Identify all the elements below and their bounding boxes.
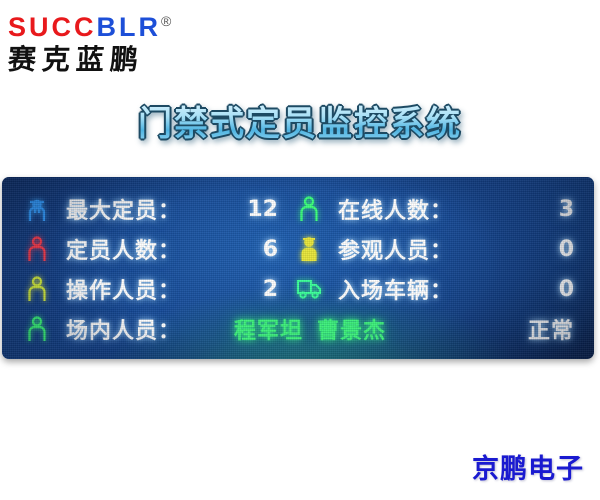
footer-brand: 京鹏电子 [472, 447, 584, 486]
led-label-operator-count: 操作人员： [66, 273, 181, 305]
led-row-staff-count: 定员人数： 6 [24, 229, 296, 269]
page-title: 门禁式定员监控系统 [0, 96, 600, 145]
led-label-visitor-count: 参观人员： [338, 233, 453, 265]
led-value-max-capacity: 12 [247, 197, 278, 222]
person-hardhat-icon [24, 194, 50, 224]
status-badge: 正常 [528, 313, 574, 345]
led-onsite-name-1: 程军坦 [234, 319, 303, 344]
led-grid: 最大定员： 12 在线人数： 3 定员人数： 6 [2, 177, 594, 359]
led-onsite-name-list: 程军坦曹景杰 [234, 313, 386, 345]
led-label-onsite-personnel: 场内人员： [66, 313, 181, 345]
brand-wordmark: SUCCBLR® [8, 6, 228, 42]
person-icon [24, 314, 50, 344]
led-label-online-count: 在线人数： [338, 193, 453, 225]
person-icon [24, 274, 50, 304]
truck-icon [296, 274, 322, 304]
led-onsite-name-2: 曹景杰 [317, 319, 386, 344]
led-value-online-count: 3 [559, 197, 574, 222]
led-row-vehicle-count: 入场车辆： 0 [296, 269, 586, 309]
brand-logo: SUCCBLR® 赛克蓝鹏 [8, 6, 228, 72]
led-row-online-count: 在线人数： 3 [296, 189, 586, 229]
brand-wordmark-part2: BLR [97, 12, 162, 42]
person-icon [24, 234, 50, 264]
led-value-operator-count: 2 [263, 277, 278, 302]
registered-trademark-icon: ® [161, 13, 171, 29]
brand-chinese-name: 赛克蓝鹏 [7, 43, 229, 77]
led-value-visitor-count: 0 [559, 237, 574, 262]
led-display-panel: 最大定员： 12 在线人数： 3 定员人数： 6 [2, 177, 594, 359]
led-row-visitor-count: 参观人员： 0 [296, 229, 586, 269]
led-value-staff-count: 6 [263, 237, 278, 262]
led-value-vehicle-count: 0 [559, 277, 574, 302]
person-visitor-icon [296, 234, 322, 264]
led-label-max-capacity: 最大定员： [66, 193, 181, 225]
led-row-max-capacity: 最大定员： 12 [24, 189, 296, 229]
led-row-onsite-personnel: 场内人员： 程军坦曹景杰 正常 [24, 309, 586, 349]
led-label-vehicle-count: 入场车辆： [338, 273, 453, 305]
led-label-staff-count: 定员人数： [66, 233, 181, 265]
person-icon [296, 194, 322, 224]
led-row-operator-count: 操作人员： 2 [24, 269, 296, 309]
brand-wordmark-part1: SUCC [8, 12, 97, 42]
